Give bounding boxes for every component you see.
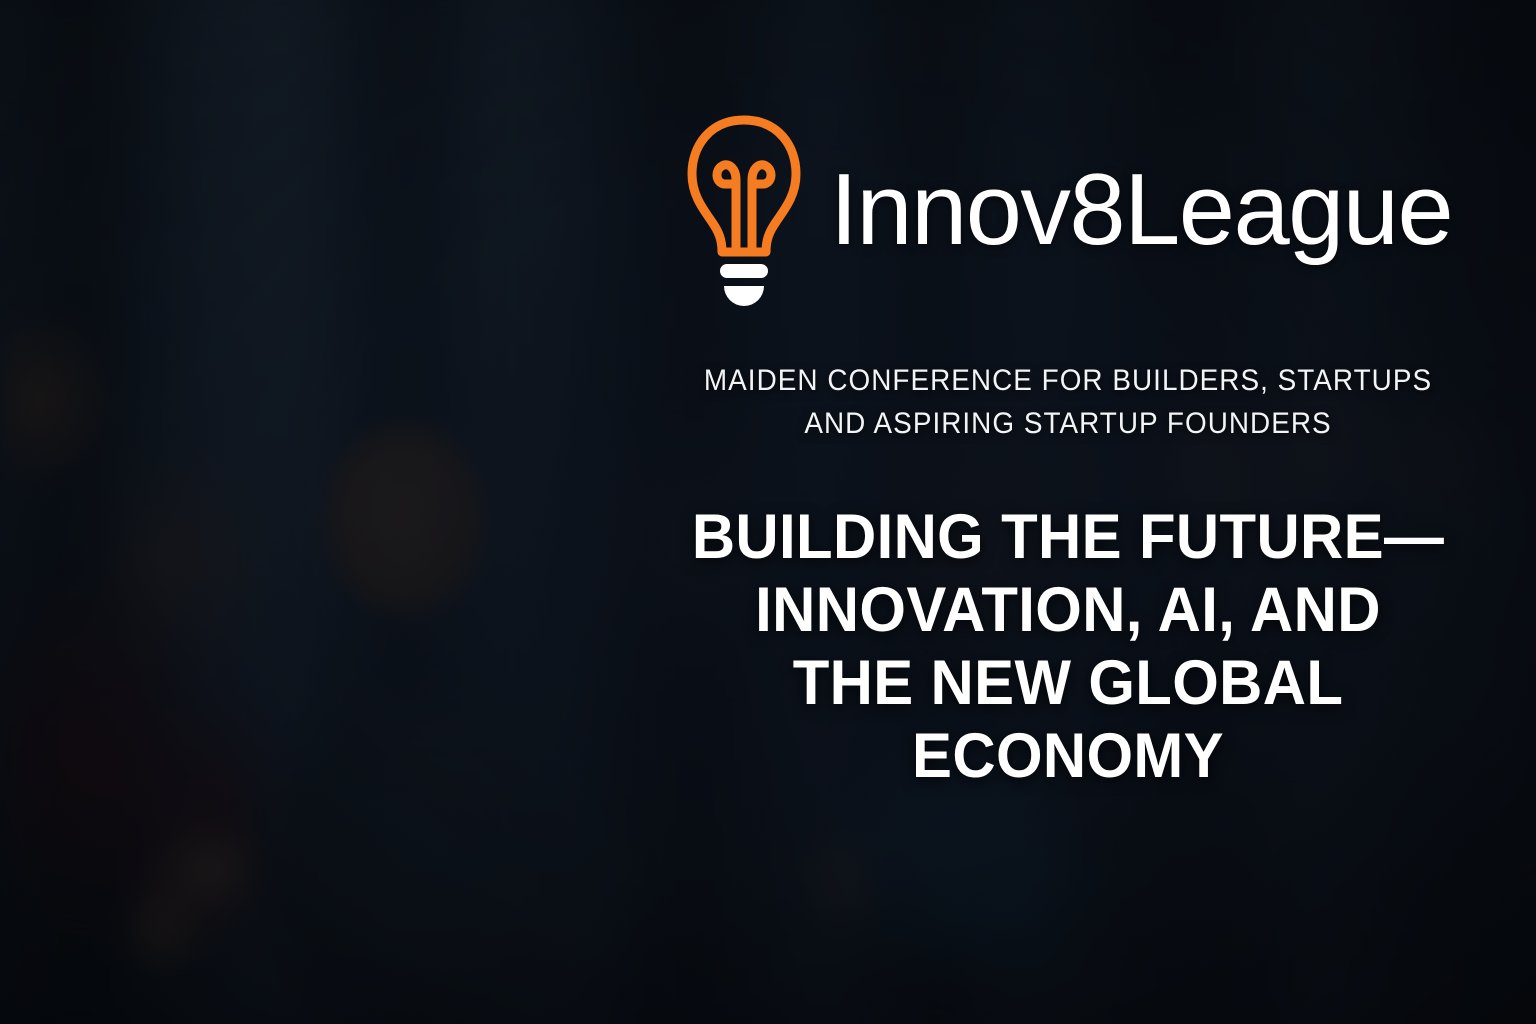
tagline-line-2: AND ASPIRING STARTUP FOUNDERS [682, 403, 1454, 446]
lightbulb-icon [684, 112, 804, 308]
event-tagline: MAIDEN CONFERENCE FOR BUILDERS, STARTUPS… [682, 360, 1454, 445]
headline-line-3: THE NEW GLOBAL [679, 647, 1458, 720]
event-banner: Innov8League MAIDEN CONFERENCE FOR BUILD… [0, 0, 1536, 1024]
headline-line-2: INNOVATION, AI, AND [679, 574, 1458, 647]
brand-wordmark: Innov8League [830, 160, 1452, 261]
tagline-line-1: MAIDEN CONFERENCE FOR BUILDERS, STARTUPS [682, 360, 1454, 403]
hero-content: Innov8League MAIDEN CONFERENCE FOR BUILD… [600, 0, 1536, 1024]
headline-line-1: BUILDING THE FUTURE— [679, 501, 1458, 574]
brand-lockup: Innov8League [684, 112, 1452, 308]
headline-line-4: ECONOMY [679, 720, 1458, 793]
event-headline: BUILDING THE FUTURE— INNOVATION, AI, AND… [679, 501, 1458, 793]
